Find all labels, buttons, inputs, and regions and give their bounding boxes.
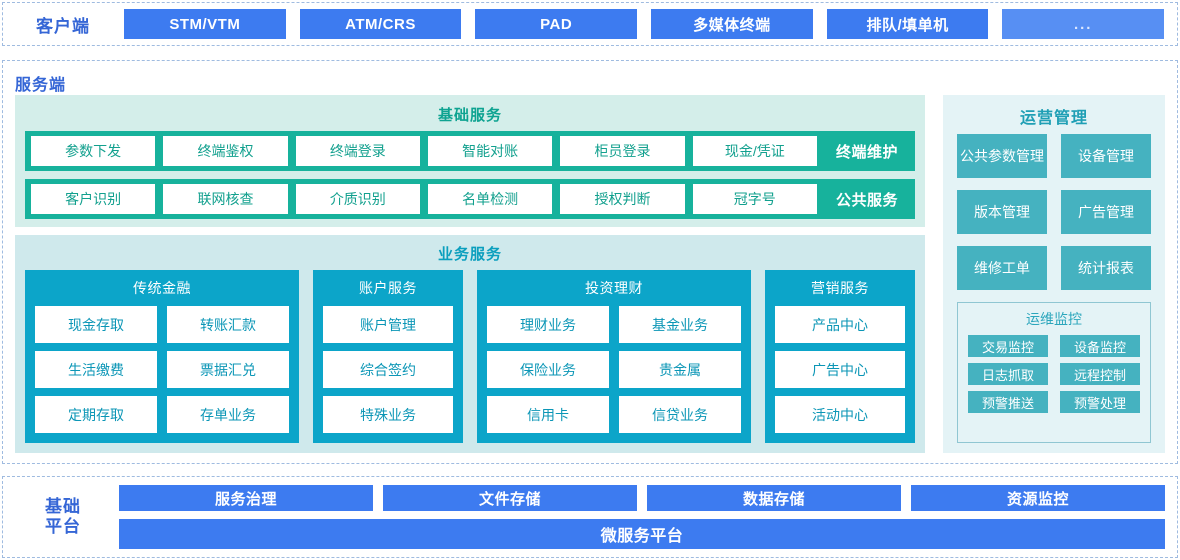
ops-cell-repair-work-order[interactable]: 维修工单 <box>957 246 1047 290</box>
basic-services-row-public-service: 客户识别 联网核查 介质识别 名单检测 授权判断 冠字号 公共服务 <box>25 179 915 219</box>
business-group-title-traditional-finance: 传统金融 <box>35 274 289 306</box>
operations-monitoring-grid: 交易监控 设备监控 日志抓取 远程控制 预警推送 预警处理 <box>968 335 1140 413</box>
monitor-cell-remote-control[interactable]: 远程控制 <box>1060 363 1140 385</box>
ops-cell-public-parameter-management[interactable]: 公共参数管理 <box>957 134 1047 178</box>
business-group-items-investment-finance: 理财业务 基金业务 保险业务 贵金属 信用卡 信贷业务 <box>487 306 741 433</box>
client-item-pad[interactable]: PAD <box>475 9 637 39</box>
operations-management-title: 运营管理 <box>957 101 1151 134</box>
business-cell-term-deposit[interactable]: 定期存取 <box>35 396 157 433</box>
business-cell-comprehensive-signing[interactable]: 综合签约 <box>323 351 453 388</box>
business-cell-certificate-deposit[interactable]: 存单业务 <box>167 396 289 433</box>
platform-item-service-governance[interactable]: 服务治理 <box>119 485 373 511</box>
operations-management-panel: 运营管理 公共参数管理 设备管理 版本管理 广告管理 维修工单 统计报表 运维监… <box>943 95 1165 453</box>
basic-cell-authorization-judgment[interactable]: 授权判断 <box>560 184 684 214</box>
business-row: 产品中心 <box>775 306 905 343</box>
client-layer: 客户端 STM/VTM ATM/CRS PAD 多媒体终端 排队/填单机 ... <box>2 2 1178 46</box>
basic-services-panel: 基础服务 参数下发 终端鉴权 终端登录 智能对账 柜员登录 现金/凭证 终端维护… <box>15 95 925 227</box>
platform-layer-title: 基础 平台 <box>11 497 115 536</box>
monitor-cell-log-capture[interactable]: 日志抓取 <box>968 363 1048 385</box>
business-group-traditional-finance: 传统金融 现金存取 转账汇款 生活缴费 票据汇兑 定期存取 <box>25 270 299 443</box>
business-cell-activity-center[interactable]: 活动中心 <box>775 396 905 433</box>
business-row: 生活缴费 票据汇兑 <box>35 351 289 388</box>
server-layer-title: 服务端 <box>15 71 66 95</box>
server-layer-body: 基础服务 参数下发 终端鉴权 终端登录 智能对账 柜员登录 现金/凭证 终端维护… <box>15 95 1165 453</box>
business-row: 广告中心 <box>775 351 905 388</box>
platform-row-top: 服务治理 文件存储 数据存储 资源监控 <box>119 485 1165 511</box>
basic-cell-cash-voucher[interactable]: 现金/凭证 <box>693 136 817 166</box>
monitor-cell-transaction-monitoring[interactable]: 交易监控 <box>968 335 1048 357</box>
business-row: 特殊业务 <box>323 396 453 433</box>
operations-monitoring-title: 运维监控 <box>968 305 1140 335</box>
business-cell-insurance-business[interactable]: 保险业务 <box>487 351 609 388</box>
basic-cell-media-recognition[interactable]: 介质识别 <box>296 184 420 214</box>
business-cell-credit-card[interactable]: 信用卡 <box>487 396 609 433</box>
business-group-title-account-service: 账户服务 <box>323 274 453 306</box>
client-item-queue-form-machine[interactable]: 排队/填单机 <box>827 9 989 39</box>
business-row: 理财业务 基金业务 <box>487 306 741 343</box>
platform-layer: 基础 平台 服务治理 文件存储 数据存储 资源监控 微服务平台 <box>2 476 1178 558</box>
business-group-items-marketing-service: 产品中心 广告中心 活动中心 <box>775 306 905 433</box>
platform-item-data-storage[interactable]: 数据存储 <box>647 485 901 511</box>
basic-cell-param-delivery[interactable]: 参数下发 <box>31 136 155 166</box>
business-row: 现金存取 转账汇款 <box>35 306 289 343</box>
business-cell-wealth-management[interactable]: 理财业务 <box>487 306 609 343</box>
client-item-stm-vtm[interactable]: STM/VTM <box>124 9 286 39</box>
monitor-cell-device-monitoring[interactable]: 设备监控 <box>1060 335 1140 357</box>
business-cell-product-center[interactable]: 产品中心 <box>775 306 905 343</box>
client-item-atm-crs[interactable]: ATM/CRS <box>300 9 462 39</box>
business-cell-transfer-remittance[interactable]: 转账汇款 <box>167 306 289 343</box>
basic-services-title: 基础服务 <box>25 101 915 131</box>
business-cell-cash-deposit-withdrawal[interactable]: 现金存取 <box>35 306 157 343</box>
client-layer-title: 客户端 <box>9 12 117 37</box>
business-cell-living-payment[interactable]: 生活缴费 <box>35 351 157 388</box>
operations-management-grid: 公共参数管理 设备管理 版本管理 广告管理 维修工单 统计报表 <box>957 134 1151 290</box>
business-group-items-traditional-finance: 现金存取 转账汇款 生活缴费 票据汇兑 定期存取 存单业务 <box>35 306 289 433</box>
business-row: 定期存取 存单业务 <box>35 396 289 433</box>
basic-row-tag-terminal-maintenance: 终端维护 <box>821 141 913 162</box>
basic-services-row-terminal-maintenance: 参数下发 终端鉴权 终端登录 智能对账 柜员登录 现金/凭证 终端维护 <box>25 131 915 171</box>
platform-title-line-2: 平台 <box>11 517 115 537</box>
basic-cell-serial-number[interactable]: 冠字号 <box>693 184 817 214</box>
business-group-marketing-service: 营销服务 产品中心 广告中心 活动中心 <box>765 270 915 443</box>
basic-cell-smart-reconciliation[interactable]: 智能对账 <box>428 136 552 166</box>
business-services-panel: 业务服务 传统金融 现金存取 转账汇款 生活缴费 票据汇兑 <box>15 235 925 453</box>
business-group-investment-finance: 投资理财 理财业务 基金业务 保险业务 贵金属 信用卡 <box>477 270 751 443</box>
basic-cell-customer-identification[interactable]: 客户识别 <box>31 184 155 214</box>
ops-cell-advertising-management[interactable]: 广告管理 <box>1061 190 1151 234</box>
business-cell-advertising-center[interactable]: 广告中心 <box>775 351 905 388</box>
business-cell-precious-metals[interactable]: 贵金属 <box>619 351 741 388</box>
ops-cell-version-management[interactable]: 版本管理 <box>957 190 1047 234</box>
business-group-title-marketing-service: 营销服务 <box>775 274 905 306</box>
business-row: 信用卡 信贷业务 <box>487 396 741 433</box>
basic-cell-terminal-auth[interactable]: 终端鉴权 <box>163 136 287 166</box>
business-row: 账户管理 <box>323 306 453 343</box>
business-group-title-investment-finance: 投资理财 <box>487 274 741 306</box>
business-row: 保险业务 贵金属 <box>487 351 741 388</box>
business-cell-fund-business[interactable]: 基金业务 <box>619 306 741 343</box>
operations-monitoring-box: 运维监控 交易监控 设备监控 日志抓取 远程控制 预警推送 预警处理 <box>957 302 1151 443</box>
monitor-cell-alert-handling[interactable]: 预警处理 <box>1060 391 1140 413</box>
server-layer: 服务端 基础服务 参数下发 终端鉴权 终端登录 智能对账 柜员登录 现金/凭证 … <box>2 60 1178 464</box>
basic-cell-terminal-login[interactable]: 终端登录 <box>296 136 420 166</box>
platform-title-line-1: 基础 <box>11 497 115 517</box>
ops-cell-statistical-report[interactable]: 统计报表 <box>1061 246 1151 290</box>
platform-item-file-storage[interactable]: 文件存储 <box>383 485 637 511</box>
business-cell-bill-exchange[interactable]: 票据汇兑 <box>167 351 289 388</box>
monitor-cell-alert-push[interactable]: 预警推送 <box>968 391 1048 413</box>
basic-cell-list-detection[interactable]: 名单检测 <box>428 184 552 214</box>
platform-item-microservice-platform[interactable]: 微服务平台 <box>119 519 1165 549</box>
business-services-groups: 传统金融 现金存取 转账汇款 生活缴费 票据汇兑 定期存取 <box>25 270 915 443</box>
client-item-multimedia-terminal[interactable]: 多媒体终端 <box>651 9 813 39</box>
business-group-items-account-service: 账户管理 综合签约 特殊业务 <box>323 306 453 433</box>
business-row: 综合签约 <box>323 351 453 388</box>
business-cell-special-business[interactable]: 特殊业务 <box>323 396 453 433</box>
server-left-column: 基础服务 参数下发 终端鉴权 终端登录 智能对账 柜员登录 现金/凭证 终端维护… <box>15 95 925 453</box>
platform-row-bottom: 微服务平台 <box>119 519 1165 549</box>
basic-row-tag-public-service: 公共服务 <box>821 189 913 210</box>
business-cell-credit-business[interactable]: 信贷业务 <box>619 396 741 433</box>
platform-layer-body: 服务治理 文件存储 数据存储 资源监控 微服务平台 <box>115 485 1169 549</box>
business-services-title: 业务服务 <box>25 240 915 270</box>
business-cell-account-management[interactable]: 账户管理 <box>323 306 453 343</box>
client-item-more[interactable]: ... <box>1002 9 1164 39</box>
business-row: 活动中心 <box>775 396 905 433</box>
basic-cell-teller-login[interactable]: 柜员登录 <box>560 136 684 166</box>
business-group-account-service: 账户服务 账户管理 综合签约 特殊业务 <box>313 270 463 443</box>
basic-cell-online-verification[interactable]: 联网核查 <box>163 184 287 214</box>
ops-cell-device-management[interactable]: 设备管理 <box>1061 134 1151 178</box>
platform-item-resource-monitoring[interactable]: 资源监控 <box>911 485 1165 511</box>
